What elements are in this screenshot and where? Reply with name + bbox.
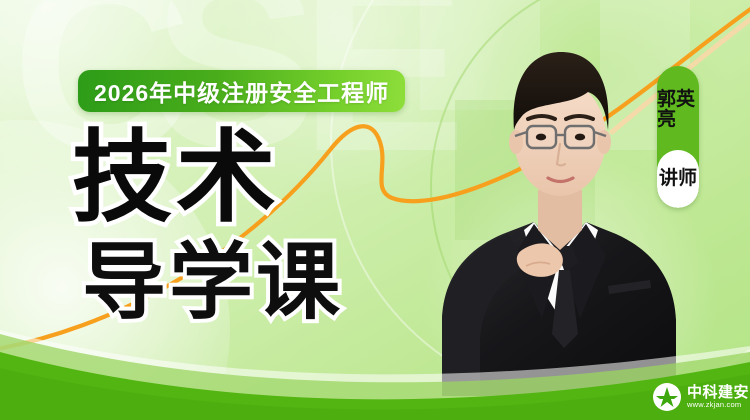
instructor-role: 讲师 bbox=[657, 150, 699, 208]
instructor-nametag: 郭英亮 讲师 bbox=[657, 66, 699, 208]
brand-name: 中科建安 bbox=[687, 385, 749, 401]
brand-mark-icon bbox=[652, 382, 682, 412]
brand-text: 中科建安 www.zkjan.com bbox=[687, 385, 749, 410]
title-main: 技术 bbox=[72, 128, 343, 228]
course-badge-label: 2026年中级注册安全工程师 bbox=[94, 74, 389, 108]
instructor-name: 郭英亮 bbox=[657, 66, 699, 150]
brand-logo: 中科建安 www.zkjan.com bbox=[652, 382, 749, 412]
brand-url: www.zkjan.com bbox=[687, 400, 749, 409]
course-poster: C S E 2026年中级注册安全工程师 技术 导学课 bbox=[0, 0, 750, 420]
course-badge: 2026年中级注册安全工程师 bbox=[78, 70, 405, 112]
bottom-wave-decoration bbox=[0, 290, 750, 420]
